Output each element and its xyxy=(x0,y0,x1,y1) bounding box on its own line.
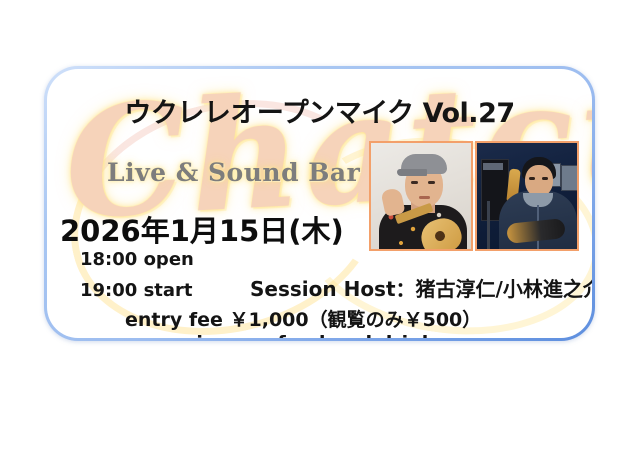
start-time: 19:00 start xyxy=(80,280,193,301)
microphone-stand-icon xyxy=(487,201,490,249)
host-photo-2 xyxy=(475,141,579,251)
entry-fee: entry fee ￥1,000（観覧のみ￥500） xyxy=(125,305,481,332)
host-photo-1 xyxy=(369,141,473,251)
event-flyer-card: Chatcu チャッチュ ウクレレオープンマイク Vol.27 Live & S… xyxy=(44,66,595,341)
venue-tagline: Live & Sound Bar xyxy=(107,158,360,187)
event-date: 2026年1月15日(木) xyxy=(60,208,344,250)
host-photo-1-image xyxy=(371,143,471,249)
open-time: 18:00 open xyxy=(80,249,194,270)
flyer-content: ウクレレオープンマイク Vol.27 Live & Sound Bar 2026… xyxy=(47,69,592,338)
food-drink-note: enjoy our food and drink xyxy=(170,332,434,341)
host-photo-2-image xyxy=(477,143,577,249)
session-host: Session Host：猪古淳仁/小林進之介 xyxy=(250,273,595,302)
page-title: ウクレレオープンマイク Vol.27 xyxy=(47,91,592,130)
